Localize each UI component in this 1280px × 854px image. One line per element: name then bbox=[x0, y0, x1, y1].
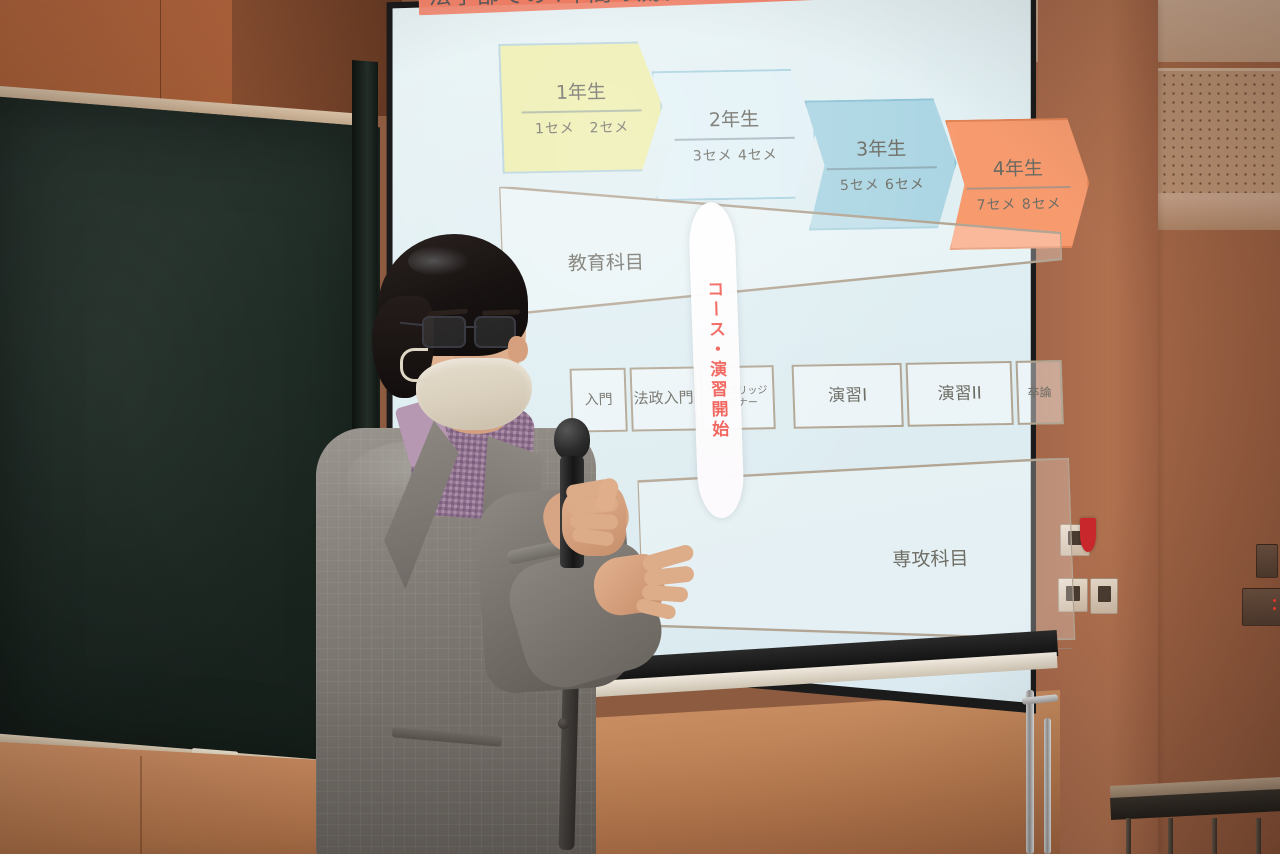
secondary-switch-panel[interactable] bbox=[1090, 578, 1118, 614]
year-arrow-2: 2年生 3セメ 4セメ bbox=[651, 68, 818, 201]
jacket-button bbox=[558, 718, 569, 729]
table-leg bbox=[1168, 818, 1173, 854]
course-start-label: コース・演習開始 bbox=[701, 280, 732, 440]
switch-rocker[interactable] bbox=[1098, 586, 1111, 602]
major-courses-label: 専攻科目 bbox=[892, 544, 969, 572]
year-semesters: 7セメ 8セメ bbox=[976, 193, 1061, 214]
year-label: 2年生 bbox=[708, 104, 759, 132]
status-led bbox=[1273, 599, 1276, 602]
wall-control-panel-lower[interactable] bbox=[1242, 588, 1280, 626]
hair-highlight bbox=[408, 246, 470, 276]
screen-stand bbox=[1018, 690, 1058, 854]
course-box-label: 演習I bbox=[828, 385, 868, 406]
course-box: 演習II bbox=[906, 361, 1014, 427]
microphone-head bbox=[554, 418, 590, 460]
year-divider bbox=[826, 166, 937, 170]
year-semesters: 1セメ 2セメ bbox=[535, 117, 630, 139]
course-box: 演習I bbox=[792, 363, 904, 429]
course-box-label: 演習II bbox=[937, 383, 982, 404]
course-box-label: 卒論 bbox=[1027, 385, 1052, 400]
wall-control-panel[interactable] bbox=[1256, 544, 1278, 578]
year-arrow-4: 4年生 7セメ 8セメ bbox=[945, 118, 1092, 250]
lecture-room-scene: RYUKOKU UNIVERSITY 法学部での4年間の流れ 1年生 1セメ 2… bbox=[0, 0, 1280, 854]
table-leg bbox=[1256, 818, 1261, 854]
glasses-bridge bbox=[465, 326, 477, 328]
stand-post-secondary bbox=[1044, 718, 1051, 854]
presenter bbox=[330, 240, 700, 854]
stand-post bbox=[1026, 690, 1034, 854]
year-divider bbox=[966, 186, 1071, 190]
glasses-lens-left bbox=[422, 316, 466, 348]
nose bbox=[508, 336, 528, 362]
year-label: 1年生 bbox=[555, 77, 606, 105]
table-leg bbox=[1212, 818, 1217, 854]
table-leg bbox=[1126, 818, 1131, 854]
year-label: 4年生 bbox=[992, 153, 1043, 181]
year-semesters: 3セメ 4セメ bbox=[692, 144, 777, 165]
year-divider bbox=[675, 137, 795, 141]
course-box: 卒論 bbox=[1016, 360, 1064, 425]
mask-ear-loop bbox=[400, 348, 428, 382]
status-led bbox=[1273, 607, 1276, 610]
year-semesters: 5セメ 6セメ bbox=[840, 173, 925, 194]
year-arrow-3: 3年生 5セメ 6セメ bbox=[804, 98, 959, 231]
year-arrow-1: 1年生 1セメ 2セメ bbox=[498, 41, 665, 174]
gesturing-hand bbox=[588, 538, 698, 634]
emergency-sign-icon bbox=[1080, 518, 1096, 552]
year-divider bbox=[521, 109, 641, 113]
year-label: 3年生 bbox=[856, 134, 907, 162]
